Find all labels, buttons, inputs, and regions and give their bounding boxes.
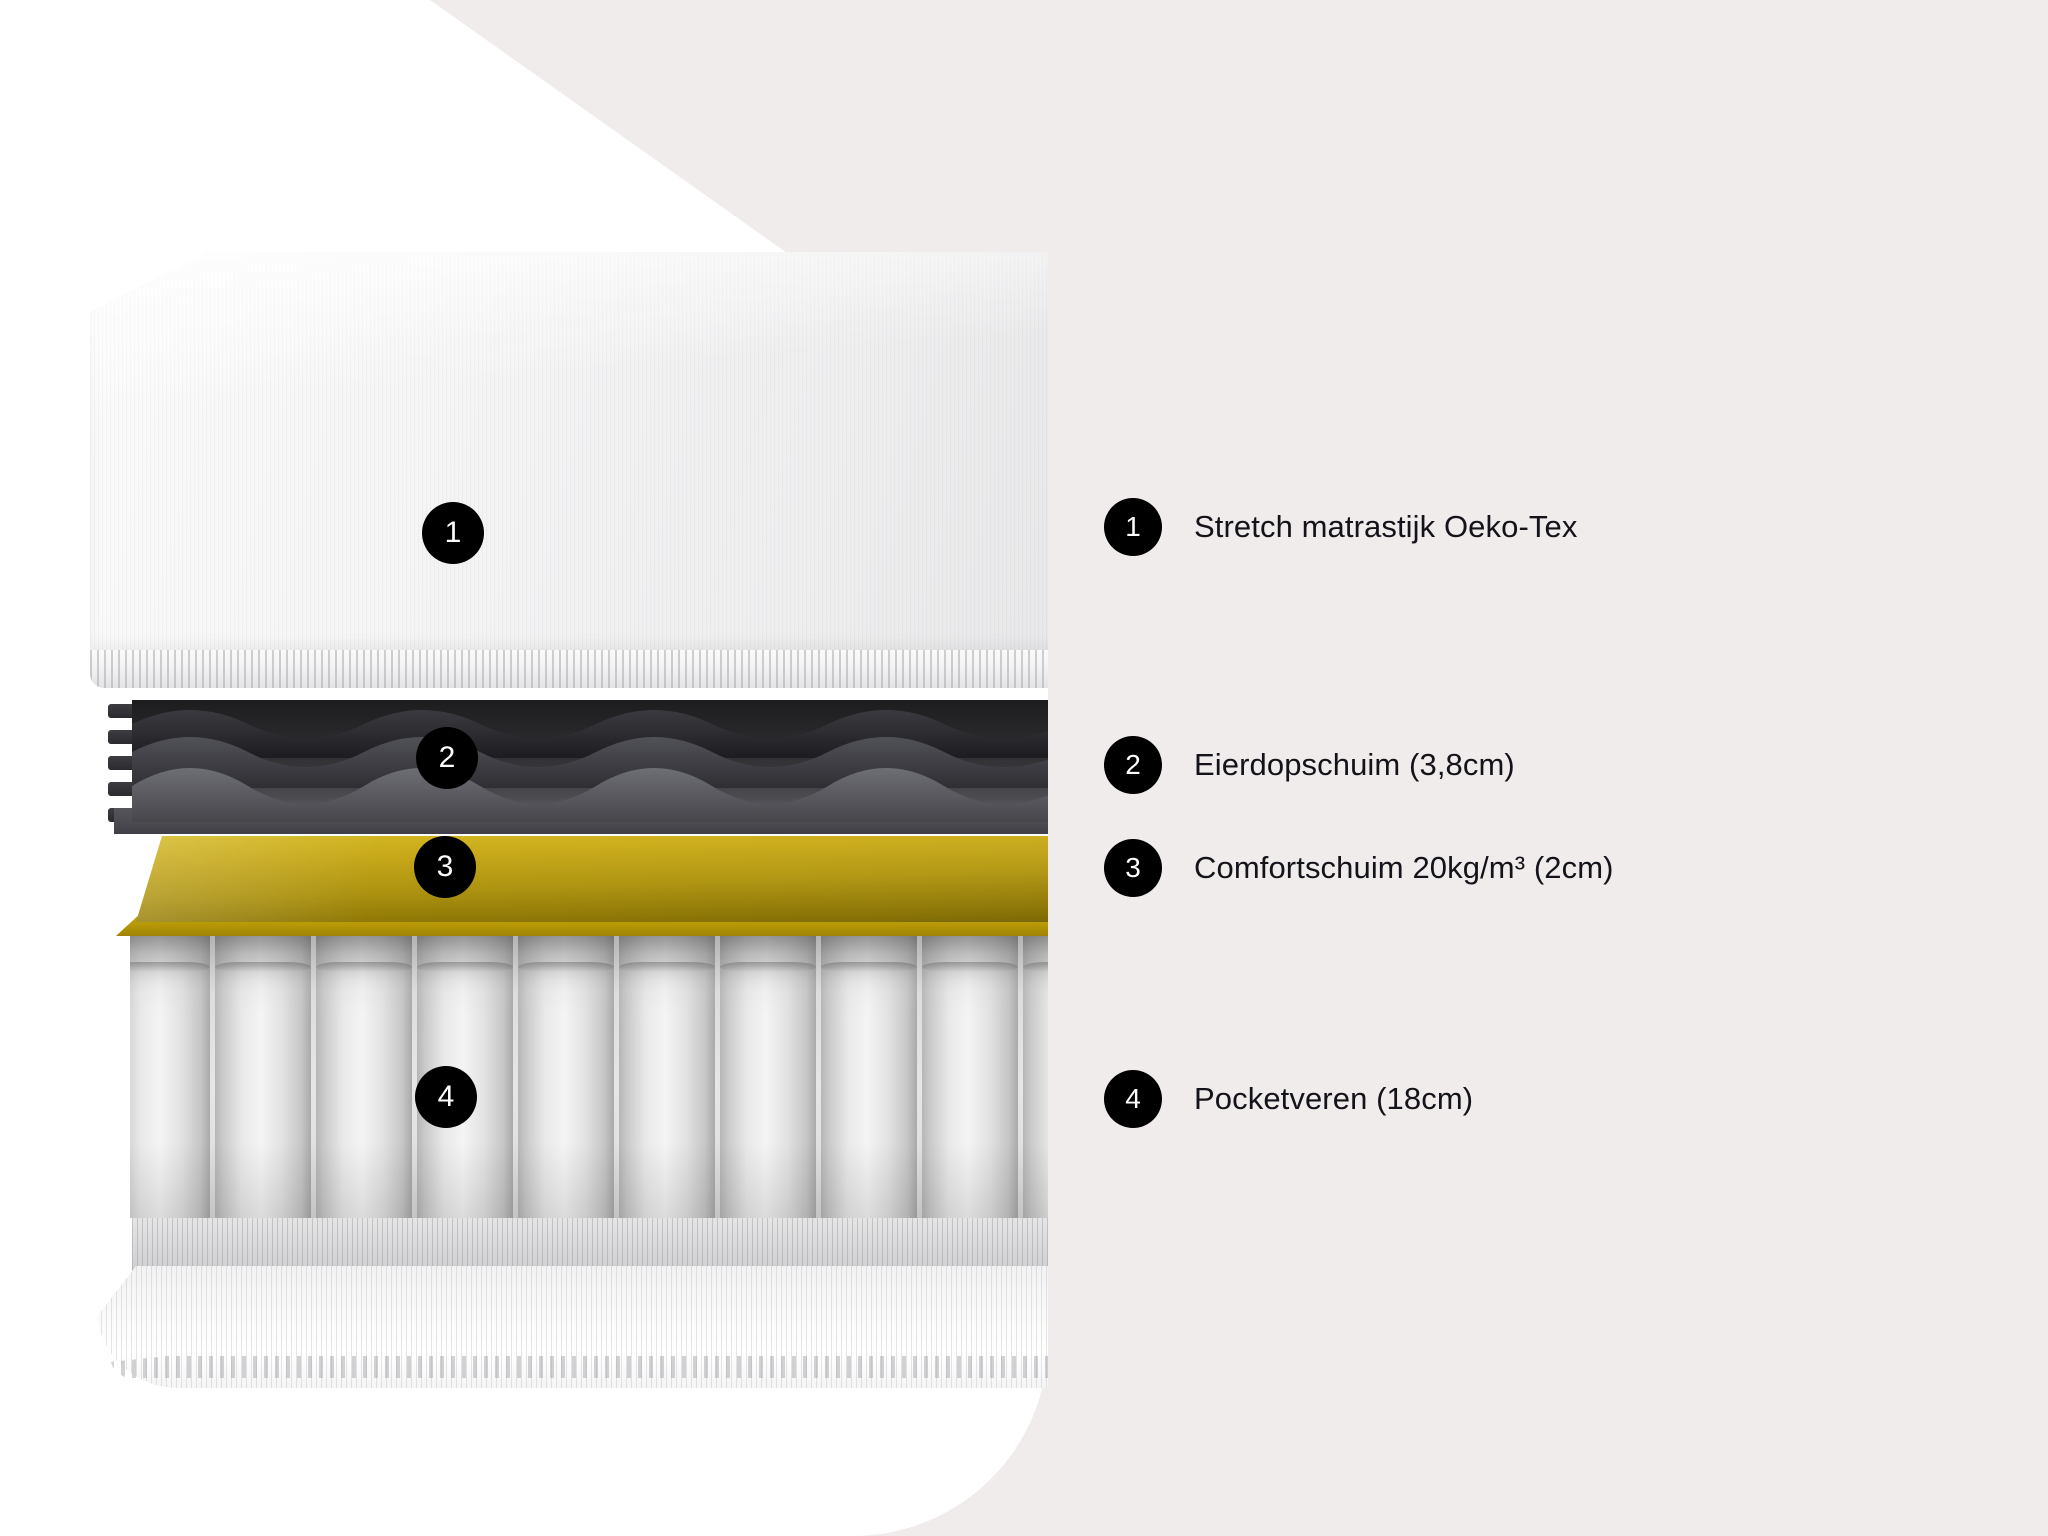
legend-badge-2: 2 [1104,736,1162,794]
pocket-spring [1023,928,1048,1218]
legend-item-3[interactable]: 3 Comfortschuim 20kg/m³ (2cm) [1104,839,1614,897]
mattress-illustration [0,0,1048,1400]
pocket-spring [619,928,715,1218]
pocket-spring [922,928,1018,1218]
image-badge-2[interactable]: 2 [416,727,478,789]
mattress-layer-base-cover [96,1208,1048,1388]
eggcrate-wave-profile [132,700,1048,822]
base-stitching [110,1356,1048,1378]
image-badge-3[interactable]: 3 [414,836,476,898]
pocket-spring [130,928,210,1218]
legend-badge-1: 1 [1104,498,1162,556]
legend-item-4[interactable]: 4 Pocketveren (18cm) [1104,1070,1473,1128]
pocket-spring [821,928,917,1218]
mattress-layer-pocket-springs [130,928,1048,1218]
pocket-spring [316,928,412,1218]
mattress-layer-comfort-foam [136,836,1048,940]
pocket-spring [720,928,816,1218]
stretch-cover-edge [90,644,1048,688]
legend-badge-3: 3 [1104,839,1162,897]
comfort-foam-top [136,836,1048,922]
legend-label-3: Comfortschuim 20kg/m³ (2cm) [1194,850,1614,886]
mattress-layer-stretch-cover [90,252,1048,684]
mattress-illustration-clip [0,0,1048,1536]
diagram-canvas: 1 2 3 4 1 Stretch matrastijk Oeko-Tex 2 … [0,0,2048,1536]
pocket-spring [215,928,311,1218]
legend-list: 1 Stretch matrastijk Oeko-Tex 2 Eierdops… [1104,0,2004,1536]
legend-label-4: Pocketveren (18cm) [1194,1081,1473,1117]
image-badge-4[interactable]: 4 [415,1066,477,1128]
legend-badge-4: 4 [1104,1070,1162,1128]
stretch-cover-top [90,252,1048,650]
mattress-layer-eggcrate-foam [132,700,1048,832]
pocket-spring [518,928,614,1218]
legend-item-1[interactable]: 1 Stretch matrastijk Oeko-Tex [1104,498,1577,556]
image-badge-1[interactable]: 1 [422,502,484,564]
legend-label-1: Stretch matrastijk Oeko-Tex [1194,509,1577,545]
legend-item-2[interactable]: 2 Eierdopschuim (3,8cm) [1104,736,1515,794]
legend-label-2: Eierdopschuim (3,8cm) [1194,747,1515,783]
